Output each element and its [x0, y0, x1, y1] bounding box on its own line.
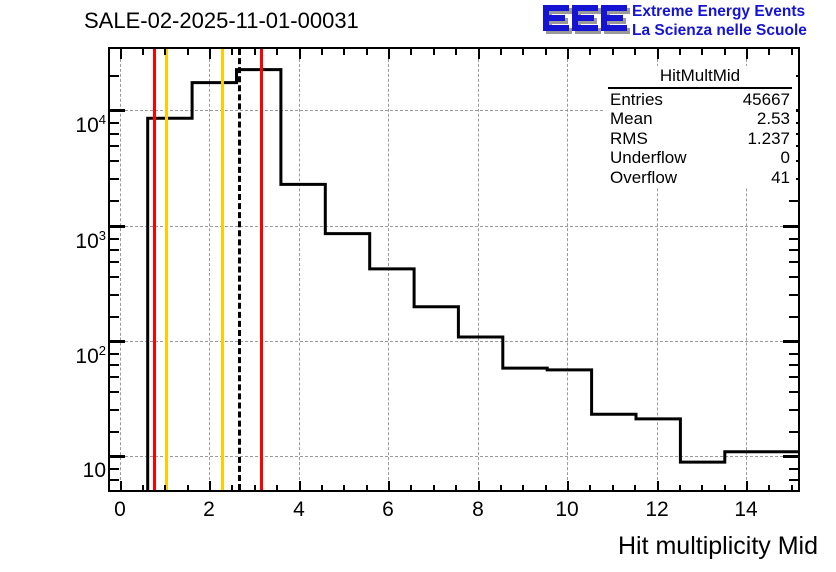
x-major-tick-0 — [120, 481, 122, 492]
y-minor-tick-l1 — [109, 75, 119, 77]
x-minor-tick-7 — [433, 485, 435, 492]
x-minor-tick-top-1 — [164, 48, 166, 55]
x-minor-tick-25 — [231, 485, 233, 492]
x-major-tick-top-12 — [657, 48, 659, 59]
stats-label-rms: RMS — [610, 129, 648, 149]
y-minor-tick-l16 — [109, 376, 119, 378]
y-minor-tick-l17 — [109, 391, 119, 393]
x-minor-tick-115 — [634, 485, 636, 492]
x-minor-tick-top-75 — [455, 48, 457, 55]
y-minor-tick-r19 — [789, 431, 799, 433]
x-minor-tick-top-95 — [545, 48, 547, 55]
y-tick-label-10: 10 — [83, 459, 106, 483]
y-minor-tick-r16 — [789, 376, 799, 378]
stats-value-underflow: 0 — [781, 148, 790, 168]
x-tick-label-10: 10 — [555, 498, 578, 522]
x-minor-tick-85 — [500, 485, 502, 492]
x-major-tick-12 — [657, 481, 659, 492]
x-minor-tick-top-15 — [187, 48, 189, 55]
y-minor-tick-l13 — [109, 316, 119, 318]
stats-label-entries: Entries — [610, 90, 663, 110]
y-major-tick-100 — [109, 340, 125, 343]
y-minor-tick-l14 — [109, 353, 119, 355]
x-minor-tick-top-25 — [231, 48, 233, 55]
x-minor-tick-top-135 — [724, 48, 726, 55]
y-minor-tick-l9 — [109, 249, 119, 251]
stats-row-underflow: Underflow 0 — [604, 148, 796, 168]
stats-title: HitMultMid — [608, 66, 792, 89]
y-minor-tick-l11 — [109, 276, 119, 278]
y-minor-tick-r13 — [789, 316, 799, 318]
x-minor-tick-15u — [791, 485, 793, 492]
y-major-tick-right-10 — [783, 455, 799, 458]
stats-row-mean: Mean 2.53 — [604, 109, 796, 129]
stats-value-mean: 2.53 — [757, 109, 790, 129]
y-minor-tick-r17 — [789, 391, 799, 393]
stats-label-mean: Mean — [610, 109, 653, 129]
x-minor-tick-105 — [589, 485, 591, 492]
x-tick-label-6: 6 — [382, 498, 394, 522]
x-minor-tick-top-05 — [142, 48, 144, 55]
x-minor-tick-55 — [366, 485, 368, 492]
y-minor-tick-r21 — [789, 479, 799, 481]
x-major-tick-top-2 — [209, 48, 211, 59]
x-minor-tick-3 — [254, 485, 256, 492]
x-minor-tick-135 — [724, 485, 726, 492]
x-major-tick-4 — [299, 481, 301, 492]
x-minor-tick-11 — [612, 485, 614, 492]
x-minor-tick-top-45 — [321, 48, 323, 55]
y-minor-tick-l21 — [109, 479, 119, 481]
y-minor-tick-l10 — [109, 261, 119, 263]
y-minor-tick-r12 — [789, 294, 799, 296]
x-minor-tick-5 — [343, 485, 345, 492]
x-minor-tick-145 — [768, 485, 770, 492]
x-minor-tick-top-11 — [612, 48, 614, 55]
y-minor-tick-r9 — [789, 249, 799, 251]
x-major-tick-2 — [209, 481, 211, 492]
eee-logo-text: Extreme Energy Events La Scienza nelle S… — [632, 2, 807, 40]
x-major-tick-top-14 — [746, 48, 748, 59]
x-minor-tick-top-115 — [634, 48, 636, 55]
y-minor-tick-r8 — [789, 238, 799, 240]
y-minor-tick-l20 — [109, 468, 119, 470]
x-minor-tick-top-13 — [701, 48, 703, 55]
y-minor-tick-r18 — [789, 409, 799, 411]
x-minor-tick-05 — [142, 485, 144, 492]
page-title: SALE-02-2025-11-01-00031 — [84, 8, 359, 34]
y-major-tick-1000 — [109, 225, 125, 228]
x-minor-tick-top-15u — [791, 48, 793, 55]
x-major-tick-top-10 — [567, 48, 569, 59]
stats-box: HitMultMid Entries 45667 Mean 2.53 RMS 1… — [604, 66, 796, 187]
x-minor-tick-75 — [455, 485, 457, 492]
stats-row-rms: RMS 1.237 — [604, 129, 796, 149]
x-minor-tick-top-105 — [589, 48, 591, 55]
y-minor-tick-r20 — [789, 468, 799, 470]
y-minor-tick-l5 — [109, 160, 119, 162]
stats-value-overflow: 41 — [771, 168, 790, 188]
y-major-tick-10000 — [109, 109, 125, 112]
x-minor-tick-15 — [187, 485, 189, 492]
x-minor-tick-top-3 — [254, 48, 256, 55]
x-major-tick-top-6 — [388, 48, 390, 59]
y-minor-tick-r14 — [789, 353, 799, 355]
y-minor-tick-l15 — [109, 364, 119, 366]
y-tick-label-10000: 104 — [75, 112, 106, 138]
y-tick-label-100: 102 — [75, 343, 106, 369]
x-minor-tick-top-125 — [679, 48, 681, 55]
x-tick-label-8: 8 — [472, 498, 484, 522]
stats-label-overflow: Overflow — [610, 168, 677, 188]
x-minor-tick-top-65 — [410, 48, 412, 55]
x-minor-tick-top-145 — [768, 48, 770, 55]
y-minor-tick-l12 — [109, 294, 119, 296]
stats-row-entries: Entries 45667 — [604, 90, 796, 110]
x-tick-label-12: 12 — [645, 498, 668, 522]
x-tick-label-4: 4 — [293, 498, 305, 522]
y-minor-tick-r11 — [789, 276, 799, 278]
x-minor-tick-top-85 — [500, 48, 502, 55]
y-minor-tick-l2 — [109, 122, 119, 124]
x-tick-label-2: 2 — [203, 498, 215, 522]
y-minor-tick-r7 — [789, 200, 799, 202]
y-major-tick-right-1000 — [783, 225, 799, 228]
x-minor-tick-top-5 — [343, 48, 345, 55]
eee-mark-icon — [540, 3, 630, 39]
x-major-tick-14 — [746, 481, 748, 492]
x-minor-tick-45 — [321, 485, 323, 492]
x-minor-tick-1 — [164, 485, 166, 492]
x-minor-tick-top-55 — [366, 48, 368, 55]
x-major-tick-6 — [388, 481, 390, 492]
x-axis-title: Hit multiplicity Mid — [618, 532, 818, 561]
x-minor-tick-13 — [701, 485, 703, 492]
x-tick-label-14: 14 — [734, 498, 757, 522]
x-major-tick-top-4 — [299, 48, 301, 59]
x-minor-tick-top-9 — [522, 48, 524, 55]
eee-logo: Extreme Energy Events La Scienza nelle S… — [540, 2, 832, 42]
x-minor-tick-top-35 — [276, 48, 278, 55]
stats-row-overflow: Overflow 41 — [604, 168, 796, 188]
x-major-tick-top-0 — [120, 48, 122, 59]
x-minor-tick-top-7 — [433, 48, 435, 55]
y-minor-tick-r15 — [789, 364, 799, 366]
y-minor-tick-l8 — [109, 238, 119, 240]
x-tick-label-0: 0 — [114, 498, 126, 522]
y-minor-tick-l7 — [109, 200, 119, 202]
y-minor-tick-l19 — [109, 431, 119, 433]
stats-value-entries: 45667 — [743, 90, 790, 110]
eee-logo-line1: Extreme Energy Events — [632, 2, 807, 21]
y-minor-tick-l4 — [109, 145, 119, 147]
x-minor-tick-35 — [276, 485, 278, 492]
y-major-tick-10 — [109, 455, 125, 458]
x-major-tick-8 — [478, 481, 480, 492]
x-minor-tick-95 — [545, 485, 547, 492]
x-major-tick-top-8 — [478, 48, 480, 59]
eee-logo-line2: La Scienza nelle Scuole — [632, 21, 807, 40]
y-minor-tick-l3 — [109, 133, 119, 135]
y-major-tick-right-100 — [783, 340, 799, 343]
y-minor-tick-l18 — [109, 409, 119, 411]
x-minor-tick-125 — [679, 485, 681, 492]
y-minor-tick-l6 — [109, 178, 119, 180]
x-minor-tick-65 — [410, 485, 412, 492]
stats-label-underflow: Underflow — [610, 148, 687, 168]
plot-canvas: SALE-02-2025-11-01-00031 — [0, 0, 836, 572]
y-minor-tick-r10 — [789, 261, 799, 263]
stats-value-rms: 1.237 — [747, 129, 790, 149]
x-minor-tick-9 — [522, 485, 524, 492]
y-tick-label-1000: 103 — [75, 228, 106, 254]
x-major-tick-10 — [567, 481, 569, 492]
